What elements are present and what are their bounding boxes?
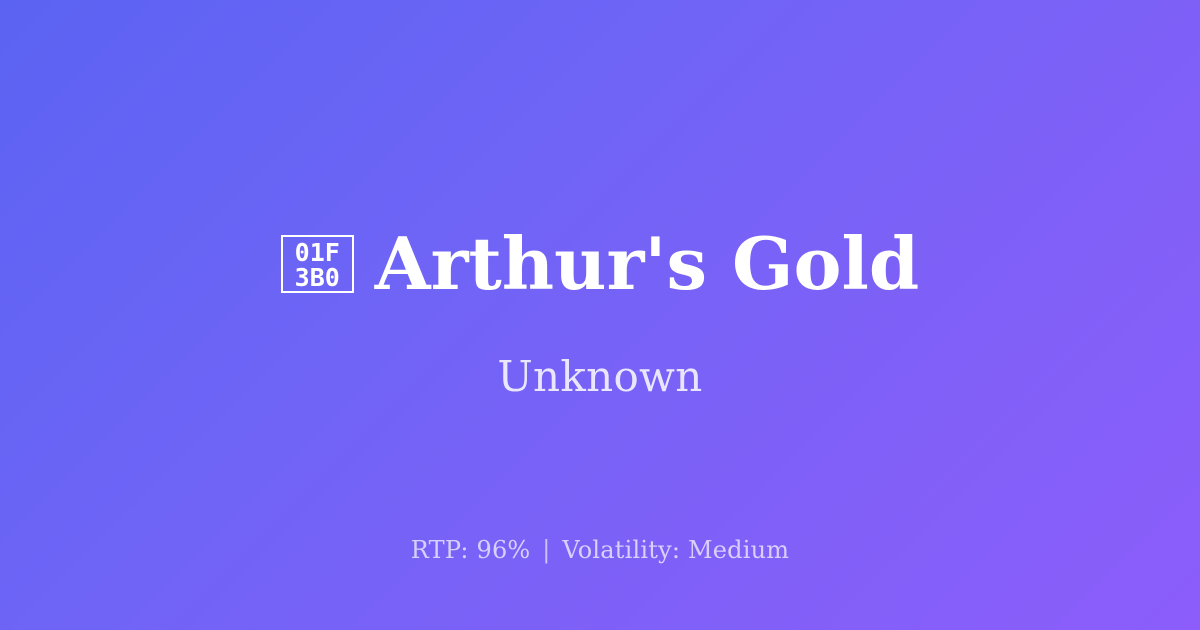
hero-block: 01F 3B0 Arthur's Gold Unknown <box>0 228 1200 401</box>
meta-separator: | <box>538 536 554 564</box>
game-share-card: 01F 3B0 Arthur's Gold Unknown RTP: 96% |… <box>0 0 1200 630</box>
page-title: Arthur's Gold <box>375 228 920 300</box>
tofu-codepoint-bottom: 3B0 <box>295 265 340 290</box>
tofu-codepoint-top: 01F <box>295 240 340 265</box>
volatility-label: Volatility: <box>562 536 680 564</box>
rtp-label: RTP: <box>411 536 469 564</box>
title-row: 01F 3B0 Arthur's Gold <box>281 228 920 300</box>
rtp-value: 96% <box>476 536 530 564</box>
provider-name: Unknown <box>497 352 702 401</box>
slot-machine-icon: 01F 3B0 <box>281 235 354 293</box>
game-meta: RTP: 96% | Volatility: Medium <box>0 536 1200 564</box>
volatility-value: Medium <box>688 536 789 564</box>
